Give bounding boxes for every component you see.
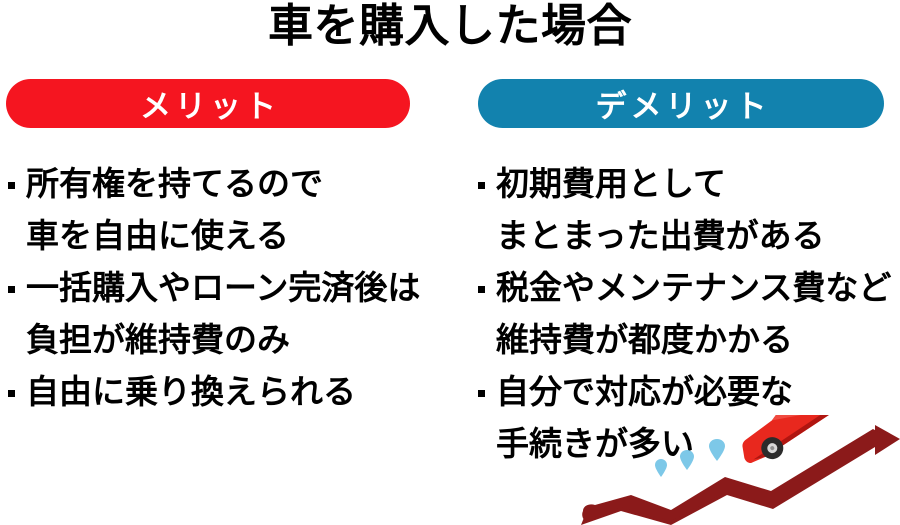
bullet-line: 税金やメンテナンス費など	[476, 262, 900, 314]
merit-heading-label: メリット	[136, 81, 280, 126]
demerit-heading-label: デメリット	[592, 81, 771, 126]
bullet-line: 初期費用として	[476, 158, 900, 210]
bullet-line: 自分で対応が必要な	[476, 366, 900, 418]
bullet-line-continuation: 維持費が都度かかる	[476, 314, 900, 366]
demerit-heading-pill: デメリット	[478, 79, 884, 128]
bullet-line: 自由に乗り換えられる	[6, 366, 456, 418]
page-title: 車を購入した場合	[0, 0, 900, 54]
demerit-bullet-list: 初期費用として まとまった出費がある 税金やメンテナンス費など 維持費が都度かか…	[476, 158, 900, 470]
merit-bullet-list: 所有権を持てるので 車を自由に使える 一括購入やローン完済後は 負担が維持費のみ…	[6, 158, 456, 418]
list-item: 自由に乗り換えられる	[6, 366, 456, 418]
list-item: 税金やメンテナンス費など 維持費が都度かかる	[476, 262, 900, 366]
list-item: 自分で対応が必要な 手続きが多い	[476, 366, 900, 470]
bullet-line: 一括購入やローン完済後は	[6, 262, 456, 314]
merit-heading-pill: メリット	[6, 79, 410, 128]
bullet-line: 所有権を持てるので	[6, 158, 456, 210]
bullet-line-continuation: 車を自由に使える	[6, 210, 456, 262]
list-item: 所有権を持てるので 車を自由に使える	[6, 158, 456, 262]
bullet-line-continuation: 手続きが多い	[476, 418, 900, 470]
bullet-line-continuation: まとまった出費がある	[476, 210, 900, 262]
bullet-line-continuation: 負担が維持費のみ	[6, 314, 456, 366]
list-item: 初期費用として まとまった出費がある	[476, 158, 900, 262]
list-item: 一括購入やローン完済後は 負担が維持費のみ	[6, 262, 456, 366]
slide-canvas: 車を購入した場合 メリット デメリット 所有権を持てるので 車を自由に使える 一…	[0, 0, 900, 525]
